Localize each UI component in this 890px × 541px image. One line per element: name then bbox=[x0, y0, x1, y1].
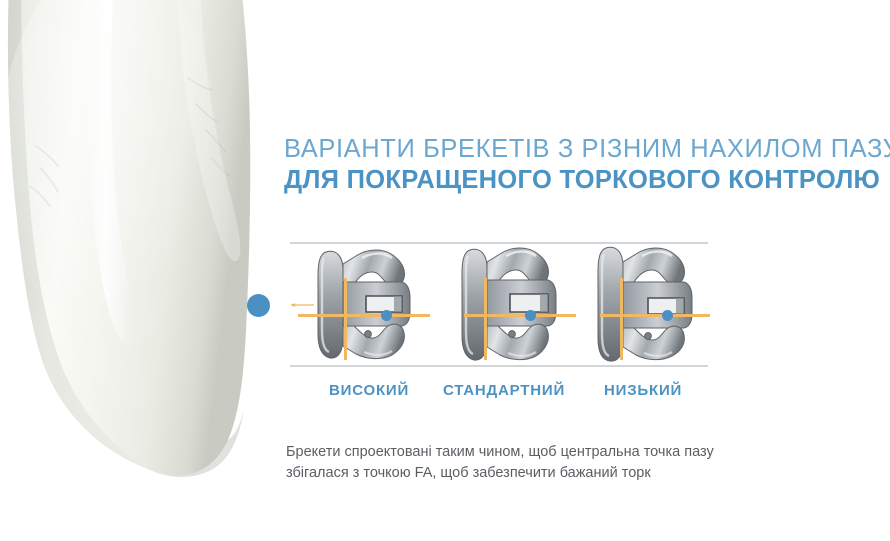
slide-canvas: ВАРІАНТИ БРЕКЕТІВ З РІЗНИМ НАХИЛОМ ПАЗУ … bbox=[0, 0, 890, 541]
slot-center-vertical-line bbox=[620, 278, 623, 360]
fa-horizontal-line bbox=[298, 314, 430, 317]
slot-center-vertical-line bbox=[344, 278, 347, 360]
bracket-metal-illustration bbox=[590, 246, 710, 362]
fa-horizontal-line bbox=[600, 314, 710, 317]
hero-tooth-image bbox=[0, 0, 272, 541]
caption-low: НИЗЬКИЙ bbox=[604, 382, 682, 399]
fa-point-dot bbox=[381, 310, 392, 321]
bracket-high bbox=[310, 246, 430, 362]
fa-point-marker-on-tooth bbox=[247, 294, 270, 317]
lower-reference-line bbox=[290, 365, 708, 367]
description-paragraph: Брекети спроектовані таким чином, щоб це… bbox=[286, 442, 756, 484]
bracket-captions-row: ВИСОКИЙ СТАНДАРТНИЙ НИЗЬКИЙ bbox=[284, 382, 714, 404]
fa-point-dot bbox=[662, 310, 673, 321]
bracket-metal-illustration bbox=[456, 246, 576, 362]
headline-line-1: ВАРІАНТИ БРЕКЕТІВ З РІЗНИМ НАХИЛОМ ПАЗУ bbox=[284, 134, 884, 164]
caption-high: ВИСОКИЙ bbox=[329, 382, 409, 399]
upper-reference-line bbox=[290, 242, 708, 244]
fa-horizontal-line bbox=[464, 314, 576, 317]
description-block: Брекети спроектовані таким чином, щоб це… bbox=[286, 442, 756, 484]
bracket-metal-illustration bbox=[310, 246, 430, 362]
tooth-illustration bbox=[0, 0, 272, 541]
headline-line-2: ДЛЯ ПОКРАЩЕНОГО ТОРКОВОГО КОНТРОЛЮ bbox=[284, 164, 884, 196]
bracket-comparison-diagram bbox=[284, 236, 714, 376]
caption-standard: СТАНДАРТНИЙ bbox=[443, 382, 565, 399]
headline-block: ВАРІАНТИ БРЕКЕТІВ З РІЗНИМ НАХИЛОМ ПАЗУ … bbox=[284, 134, 884, 196]
bracket-low bbox=[590, 246, 710, 362]
bracket-standard bbox=[456, 246, 576, 362]
fa-point-dot bbox=[525, 310, 536, 321]
slot-center-vertical-line bbox=[484, 278, 487, 360]
